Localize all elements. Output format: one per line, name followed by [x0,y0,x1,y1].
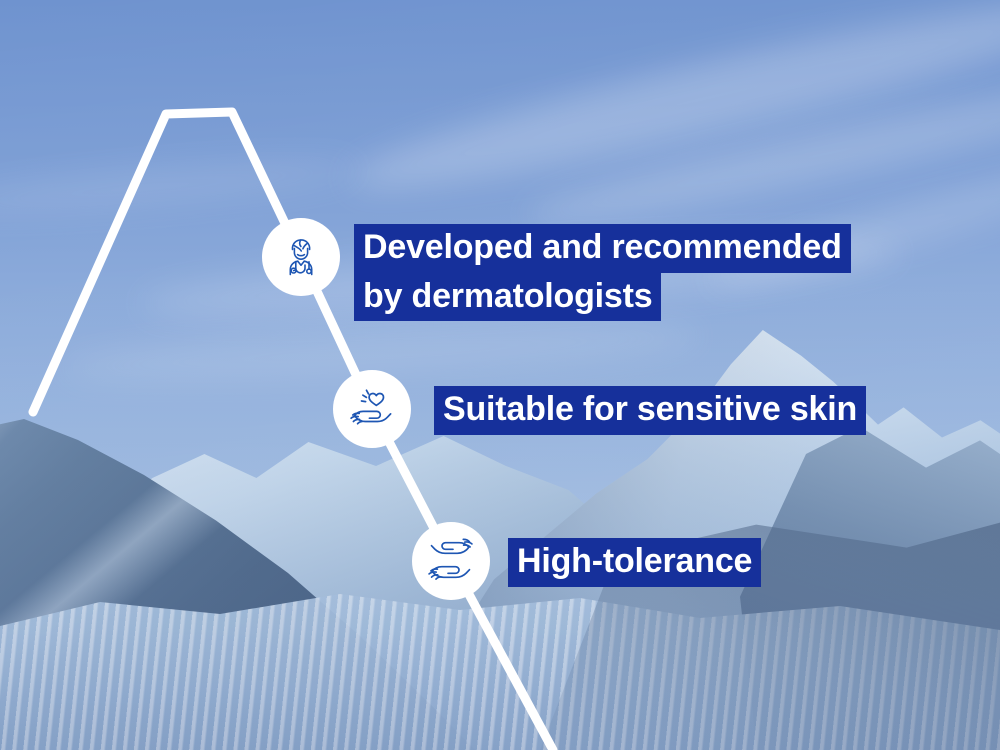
feature-text-dermatologists: Developed and recommended by dermatologi… [354,224,851,321]
banner-line: by dermatologists [354,273,661,322]
promo-banner-slide: Developed and recommended by dermatologi… [0,0,1000,750]
feature-icon-bubble-sensitive-skin[interactable] [333,370,411,448]
banner-line: Developed and recommended [354,224,851,273]
doctor-icon [276,232,326,282]
feature-text-sensitive-skin: Suitable for sensitive skin [434,386,866,435]
feature-icon-bubble-dermatologists[interactable] [262,218,340,296]
connector-polyline [0,0,1000,750]
feature-icon-bubble-high-tolerance[interactable] [412,522,490,600]
feature-text-high-tolerance: High-tolerance [508,538,761,587]
hand-heart-icon [346,383,398,435]
banner-line: High-tolerance [508,538,761,587]
banner-line: Suitable for sensitive skin [434,386,866,435]
two-hands-icon [423,533,479,589]
